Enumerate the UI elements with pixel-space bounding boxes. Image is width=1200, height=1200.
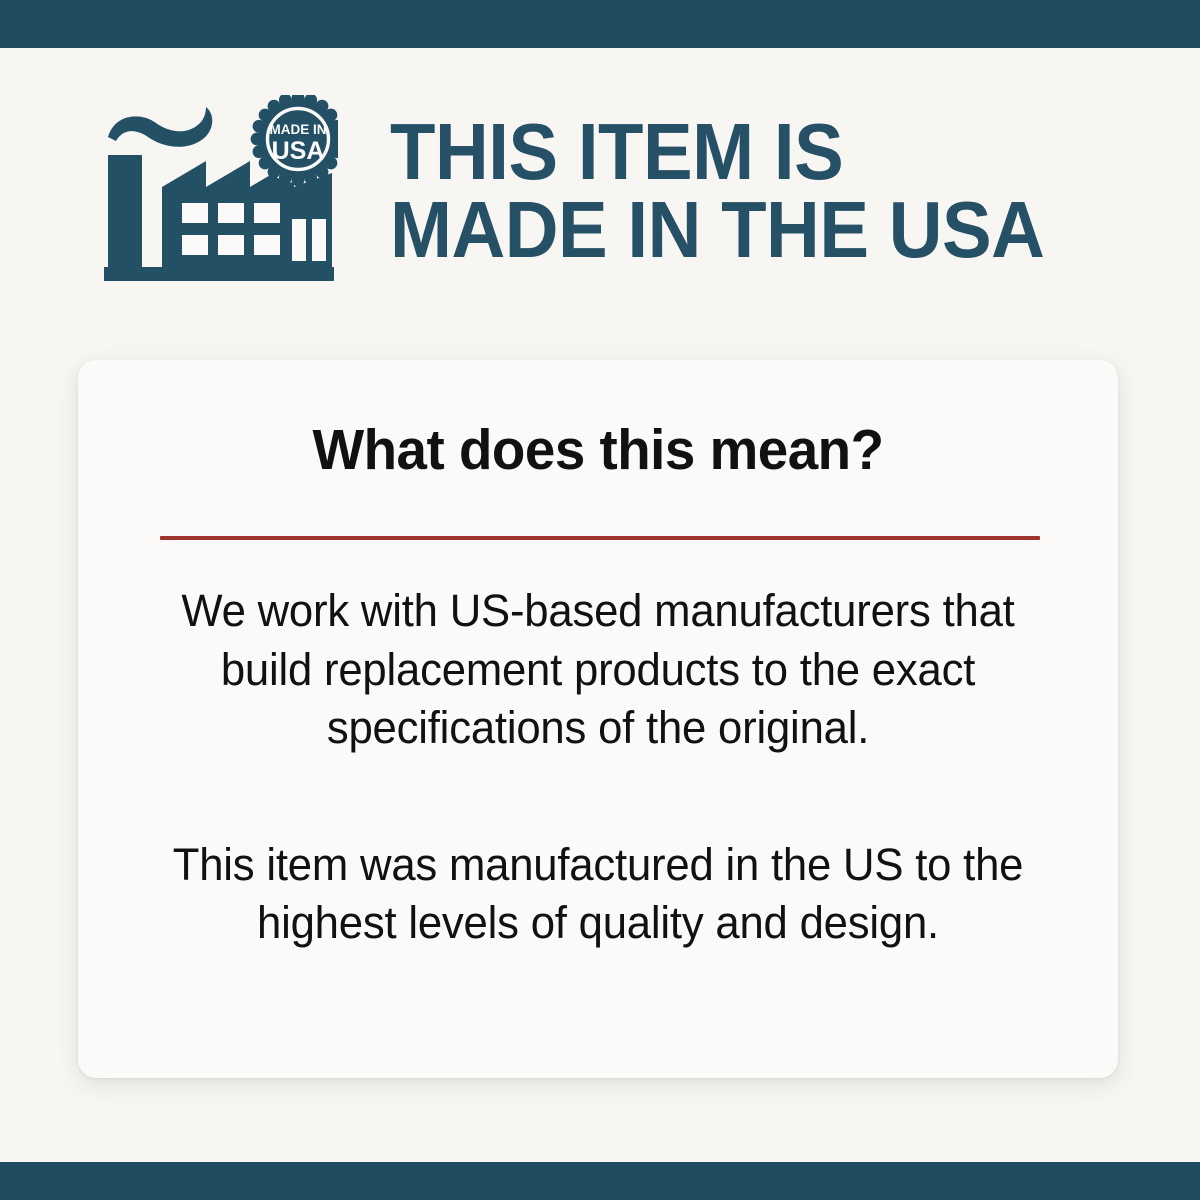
title-line-1: THIS ITEM IS <box>390 113 1044 191</box>
page-title: THIS ITEM IS MADE IN THE USA <box>390 113 1094 268</box>
body-paragraph-2: This item was manufactured in the US to … <box>150 836 1046 953</box>
body-paragraph-1: We work with US-based manufacturers that… <box>150 582 1046 758</box>
card-divider <box>160 536 1040 540</box>
title-line-2: MADE IN THE USA <box>390 191 1044 269</box>
badge-made-in-text: MADE IN <box>270 122 327 137</box>
top-accent-bar <box>0 0 1200 48</box>
bottom-accent-bar <box>0 1162 1200 1200</box>
card-body: We work with US-based manufacturers that… <box>136 582 1060 953</box>
info-card: What does this mean? We work with US-bas… <box>78 360 1118 1078</box>
page-header: MADE IN USA THIS ITEM IS MADE IN THE USA <box>0 48 1200 328</box>
factory-icon: MADE IN USA <box>100 95 338 285</box>
badge-usa-text: USA <box>272 137 325 165</box>
card-heading: What does this mean? <box>99 422 1097 479</box>
